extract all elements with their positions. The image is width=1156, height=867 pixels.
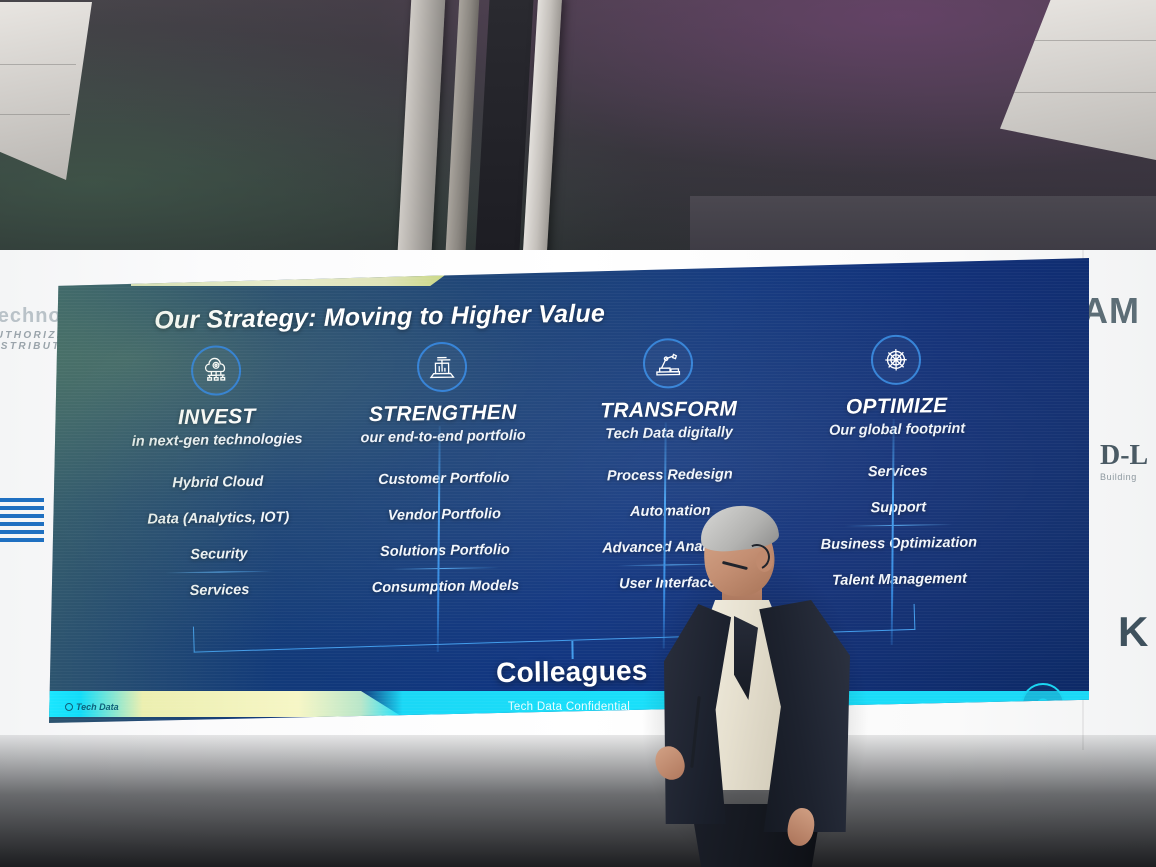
strategy-column-title: INVEST	[110, 404, 324, 431]
ceiling-beam-middle	[445, 0, 480, 271]
slide-title: Our Strategy: Moving to Higher Value	[154, 299, 605, 335]
list-item: Customer Portfolio	[337, 469, 551, 488]
list-item: Services	[112, 581, 326, 600]
presenter	[638, 508, 868, 867]
strategy-column-list: Hybrid Cloud Data (Analytics, IOT) Secur…	[111, 473, 327, 600]
laptop-chart-icon	[417, 342, 468, 393]
strategy-column-list: Customer Portfolio Vendor Portfolio Solu…	[337, 469, 553, 596]
strategy-column-subtitle: Our global footprint	[790, 420, 1004, 439]
strategy-column-title: STRENGTHEN	[336, 400, 550, 427]
ibm-logo	[0, 498, 44, 546]
dlink-logo-tagline: Building	[1100, 472, 1148, 482]
strategy-column-subtitle: our end-to-end portfolio	[336, 427, 550, 446]
strategy-column-invest: INVEST in next-gen technologies Hybrid C…	[109, 344, 327, 620]
strategy-columns: INVEST in next-gen technologies Hybrid C…	[99, 332, 1053, 627]
dlink-logo-name: D-L	[1100, 440, 1148, 472]
list-item: Process Redesign	[563, 466, 777, 485]
strategy-column-strengthen: STRENGTHEN our end-to-end portfolio Cust…	[335, 340, 553, 616]
kingston-logo: K	[1118, 608, 1148, 656]
skylight-right	[1000, 0, 1156, 166]
stage-floor-shadow	[0, 735, 1156, 867]
list-item: Security	[112, 545, 326, 564]
list-item: Data (Analytics, IOT)	[111, 509, 325, 528]
list-item: Consumption Models	[338, 577, 552, 596]
presentation-slide: Our Strategy: Moving to Higher Value	[49, 258, 1089, 723]
strategy-column-title: OPTIMIZE	[790, 393, 1004, 420]
strategy-column-subtitle: in next-gen technologies	[110, 431, 324, 450]
foundation-label: Colleagues	[52, 648, 1089, 696]
ceiling-beam-left	[397, 0, 446, 271]
amd-logo: AM	[1082, 290, 1140, 332]
robot-arm-icon	[643, 338, 694, 389]
ceiling	[0, 0, 1156, 262]
list-item: Services	[791, 462, 1005, 481]
cloud-gear-icon	[191, 345, 242, 396]
photo-scene: Technologies AUTHORIZED DISTRIBUTOR AM D…	[0, 0, 1156, 867]
list-item: Hybrid Cloud	[111, 473, 325, 492]
list-item: Vendor Portfolio	[337, 505, 551, 524]
strategy-column-title: TRANSFORM	[562, 397, 776, 424]
dlink-logo: D-L Building	[1100, 440, 1148, 482]
globe-gear-icon	[871, 334, 922, 385]
list-item: Solutions Portfolio	[338, 541, 552, 560]
strategy-column-subtitle: Tech Data digitally	[562, 424, 776, 443]
skylight-left	[0, 2, 92, 180]
